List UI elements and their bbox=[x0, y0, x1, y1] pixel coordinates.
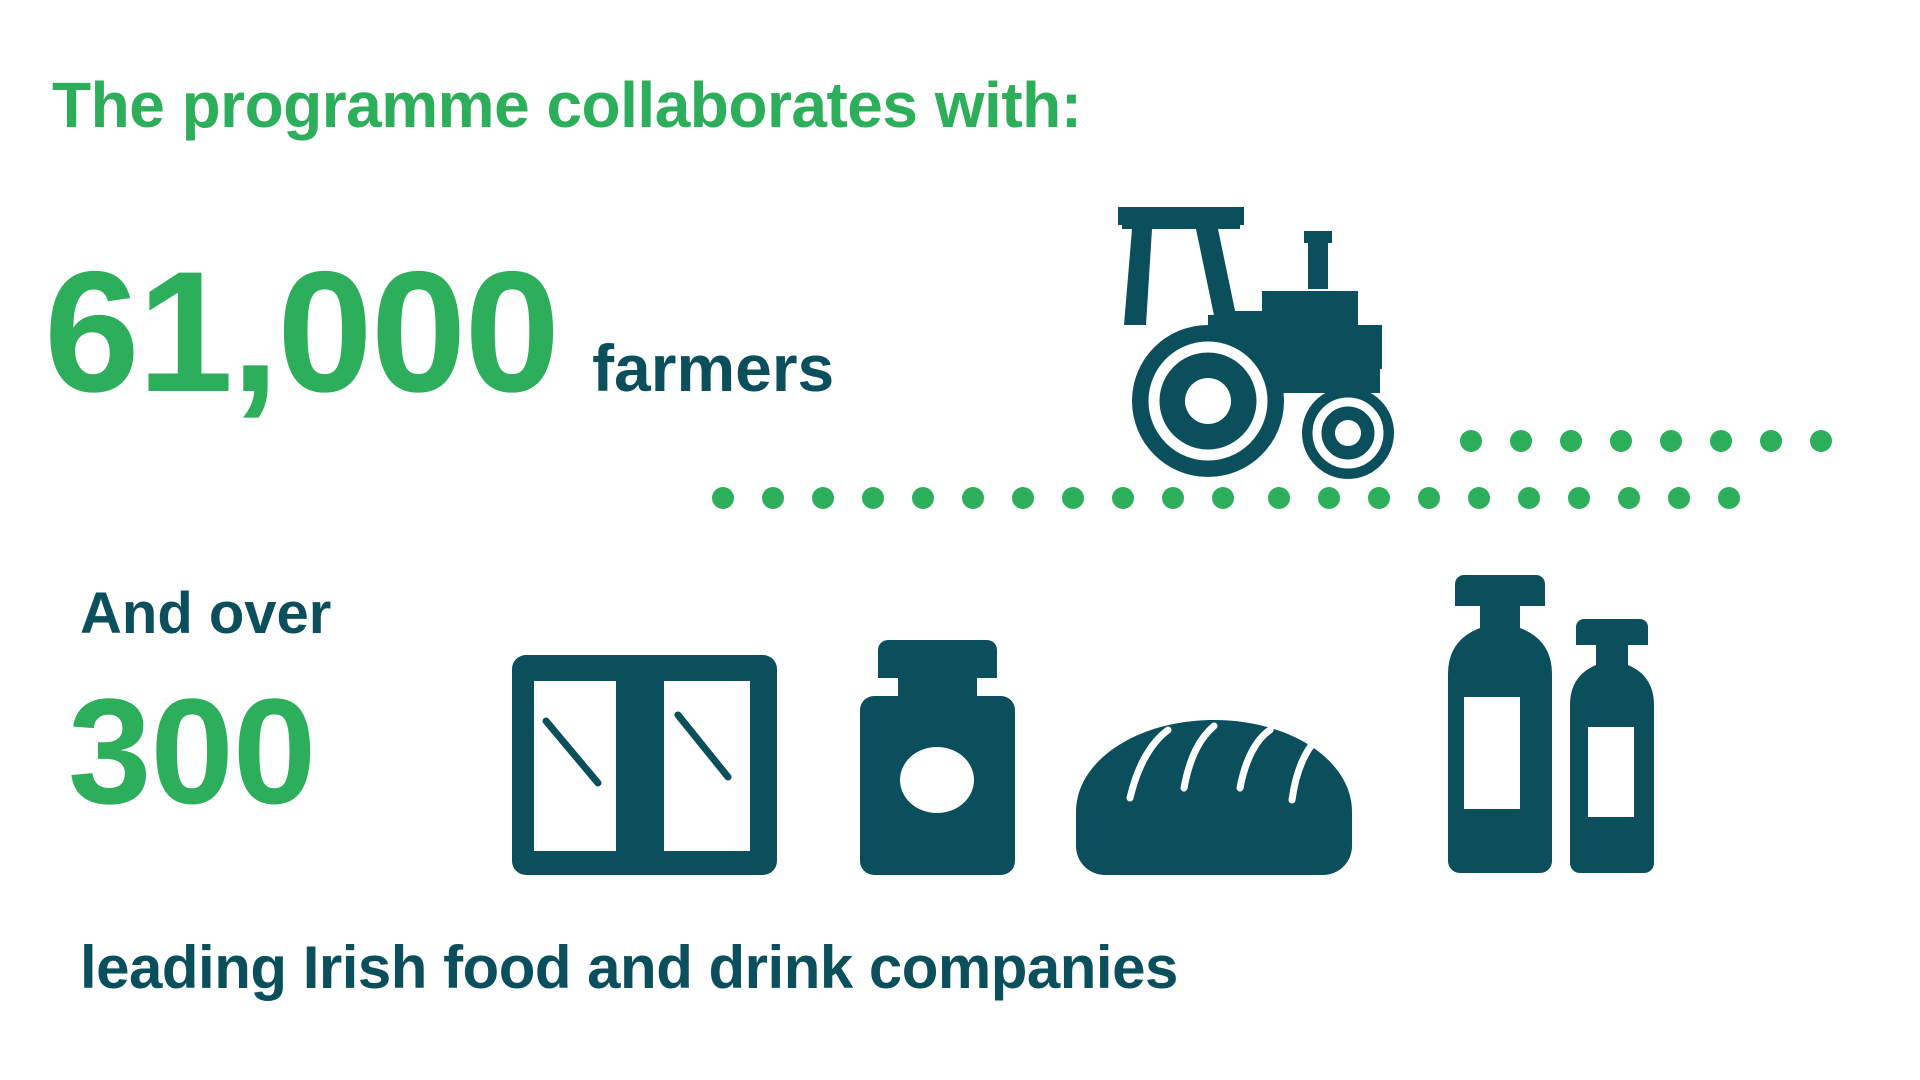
dot-icon bbox=[1618, 487, 1640, 509]
dot-icon bbox=[1810, 430, 1832, 452]
dot-icon bbox=[862, 487, 884, 509]
page-title: The programme collaborates with: bbox=[52, 72, 1082, 139]
bread-icon bbox=[1068, 720, 1360, 875]
jar-icon bbox=[860, 640, 1015, 875]
fridge-icon bbox=[512, 655, 777, 875]
dot-icon bbox=[1610, 430, 1632, 452]
farmers-label: farmers bbox=[592, 335, 834, 401]
dot-icon bbox=[1518, 487, 1540, 509]
dot-icon bbox=[912, 487, 934, 509]
farmers-count: 61,000 bbox=[44, 262, 558, 403]
infographic-canvas: The programme collaborates with: 61,000 … bbox=[0, 0, 1920, 1080]
and-over-label: And over bbox=[80, 585, 331, 643]
dot-icon bbox=[1460, 430, 1482, 452]
stat-farmers: 61,000 farmers bbox=[44, 262, 834, 403]
dot-icon bbox=[1660, 430, 1682, 452]
companies-count: 300 bbox=[68, 690, 315, 813]
companies-caption: leading Irish food and drink companies bbox=[80, 938, 1178, 998]
dot-icon bbox=[1760, 430, 1782, 452]
dot-icon bbox=[1560, 430, 1582, 452]
dot-icon bbox=[1510, 430, 1532, 452]
dot-icon bbox=[962, 487, 984, 509]
dot-icon bbox=[1718, 487, 1740, 509]
dot-icon bbox=[1012, 487, 1034, 509]
dot-row-right-upper bbox=[1460, 430, 1832, 452]
dot-icon bbox=[712, 487, 734, 509]
dot-icon bbox=[1062, 487, 1084, 509]
dot-icon bbox=[1710, 430, 1732, 452]
dot-icon bbox=[1568, 487, 1590, 509]
dot-icon bbox=[1468, 487, 1490, 509]
bottles-icon bbox=[1428, 575, 1663, 875]
dot-icon bbox=[1668, 487, 1690, 509]
dot-icon bbox=[812, 487, 834, 509]
dot-icon bbox=[762, 487, 784, 509]
tractor-icon bbox=[1112, 205, 1442, 495]
